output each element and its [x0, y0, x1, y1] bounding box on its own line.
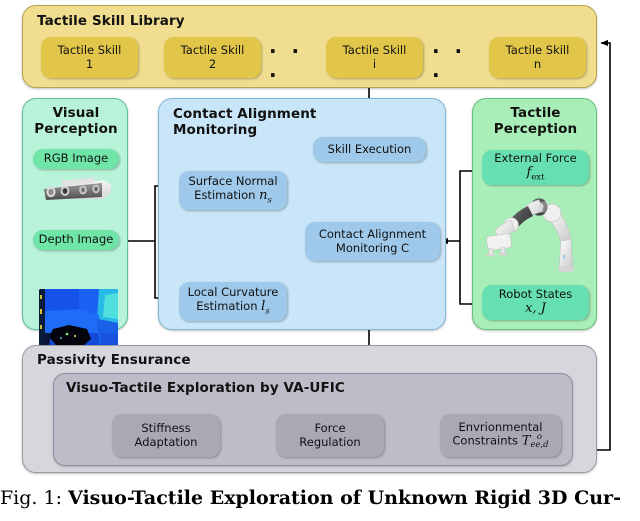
tactile-perception-title: Tactile Perception [473, 105, 598, 137]
environmental-constraints-line2: Constraints T o ee,d [452, 434, 548, 450]
external-force-subscript: ext [531, 172, 544, 182]
skill-ellipsis-right: . . . [432, 47, 488, 69]
skill-i-index: i [373, 58, 376, 71]
force-regulation-node[interactable]: Force Regulation [276, 414, 384, 457]
vaufic-subtitle: Visuo-Tactile Exploration by VA-UFIC [66, 380, 345, 396]
tactile-perception-title-line1: Tactile [473, 105, 598, 121]
tactile-skill-library-title: Tactile Skill Library [37, 13, 185, 29]
figure-canvas: Tactile Skill Library Tactile Skill 1 Ta… [0, 0, 640, 521]
figure-caption-lead: Fig. 1: [0, 487, 62, 509]
surface-normal-estimation-node[interactable]: Surface Normal Estimation ns [179, 171, 287, 210]
tactile-skill-library-panel: Tactile Skill Library Tactile Skill 1 Ta… [22, 5, 597, 88]
tactile-skill-1[interactable]: Tactile Skill 1 [41, 37, 138, 78]
contact-alignment-title: Contact Alignment Monitoring [173, 106, 316, 139]
figure-caption: Fig. 1: Visuo-Tactile Exploration of Unk… [0, 487, 640, 509]
skill-n-index: n [534, 58, 541, 71]
skill-1-index: 1 [86, 58, 93, 71]
tactile-skill-2[interactable]: Tactile Skill 2 [164, 37, 261, 78]
external-force-node[interactable]: External Force fext [482, 150, 589, 185]
figure-caption-bold: Visuo-Tactile Exploration of Unknown Rig… [68, 487, 621, 509]
skill-execution-label: Skill Execution [328, 143, 412, 156]
visual-perception-title-line2: Perception [23, 121, 129, 137]
environmental-constraints-node[interactable]: Envrionmental Constraints T o ee,d [440, 414, 561, 457]
tactile-perception-title-line2: Perception [473, 121, 598, 137]
local-curvature-line2-text: Estimation [196, 299, 257, 313]
passivity-ensurance-panel: Passivity Ensurance Visuo-Tactile Explor… [22, 345, 597, 473]
external-force-label: External Force [494, 152, 576, 165]
skill-n-name: Tactile Skill [506, 44, 570, 57]
constraint-subscript: ee,d [530, 442, 548, 449]
local-curvature-subscript: s [265, 306, 269, 316]
rgb-image-label[interactable]: RGB Image [33, 149, 119, 169]
monitoring-line2: Monitoring C [336, 242, 409, 255]
tactile-skill-i[interactable]: Tactile Skill i [326, 37, 423, 78]
skill-2-name: Tactile Skill [181, 44, 245, 57]
realsense-camera-photo [39, 175, 115, 207]
visual-perception-title: Visual Perception [23, 105, 129, 137]
depth-map-thumbnail [39, 289, 118, 346]
stiffness-adaptation-line2: Adaptation [135, 436, 198, 449]
skill-2-index: 2 [209, 58, 216, 71]
constraint-symbol: T [522, 434, 531, 449]
skill-execution-node[interactable]: Skill Execution [313, 137, 426, 162]
skill-1-name: Tactile Skill [58, 44, 122, 57]
surface-normal-subscript: s [267, 195, 271, 205]
surface-normal-line2: Estimation ns [194, 189, 272, 206]
tactile-skill-n[interactable]: Tactile Skill n [489, 37, 586, 78]
passivity-ensurance-title: Passivity Ensurance [37, 352, 191, 368]
force-regulation-line1: Force [314, 422, 345, 435]
tactile-perception-panel: Tactile Perception External Force fext [472, 98, 597, 330]
local-curvature-estimation-node[interactable]: Local Curvature Estimation ls [179, 282, 287, 321]
force-regulation-line2: Regulation [299, 436, 360, 449]
vaufic-subpanel: Visuo-Tactile Exploration by VA-UFIC Sti… [53, 373, 573, 466]
robot-states-node[interactable]: Robot States x, J [482, 285, 589, 320]
rgb-image-label-text: RGB Image [44, 152, 108, 165]
contact-alignment-monitoring-node[interactable]: Contact Alignment Monitoring C [305, 222, 440, 261]
visual-perception-title-line1: Visual [23, 105, 129, 121]
skill-i-name: Tactile Skill [343, 44, 407, 57]
contact-alignment-title-line2: Monitoring [173, 122, 316, 138]
robot-states-symbols: x, J [525, 302, 546, 317]
environmental-constraints-line2-text: Constraints [452, 434, 518, 448]
franka-panda-robot-photo [481, 191, 591, 275]
monitoring-line1: Contact Alignment [319, 228, 426, 241]
surface-normal-line2-text: Estimation [194, 188, 255, 202]
local-curvature-line2: Estimation ls [196, 300, 269, 317]
contact-alignment-monitoring-panel: Contact Alignment Monitoring Skill Execu… [158, 98, 446, 330]
depth-image-label[interactable]: Depth Image [33, 230, 119, 250]
visual-perception-panel: Visual Perception RGB Image [22, 98, 128, 330]
environmental-constraints-line1: Envrionmental [459, 421, 543, 434]
robot-states-label: Robot States [499, 288, 572, 301]
depth-image-label-text: Depth Image [39, 233, 114, 246]
stiffness-adaptation-node[interactable]: Stiffness Adaptation [112, 414, 220, 457]
external-force-symbol-group: fext [526, 166, 544, 183]
contact-alignment-title-line1: Contact Alignment [173, 106, 316, 122]
stiffness-adaptation-line1: Stiffness [141, 422, 190, 435]
skill-ellipsis-left: . . . [269, 47, 325, 69]
